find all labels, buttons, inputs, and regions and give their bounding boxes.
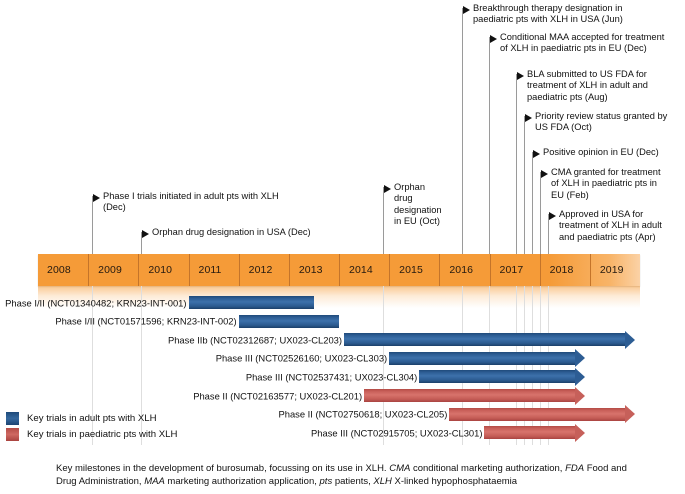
gantt-gridline bbox=[540, 286, 541, 445]
milestone-arrow-icon bbox=[517, 72, 524, 80]
year-cell-2009: 2009 bbox=[88, 254, 138, 286]
gantt-bar-body bbox=[389, 352, 575, 365]
year-cell-2011: 2011 bbox=[189, 254, 239, 286]
gantt-bar-arrowhead-icon bbox=[575, 349, 585, 367]
gantt-bar-arrowhead-icon bbox=[575, 424, 585, 442]
milestone-arrow-icon bbox=[142, 230, 149, 238]
milestone-label: Breakthrough therapy designation in paed… bbox=[473, 3, 623, 26]
caption-text: X-linked hypophosphataemia bbox=[392, 476, 517, 487]
gantt-row[interactable]: Phase I/II (NCT01340482; KRN23-INT-001) bbox=[189, 296, 314, 309]
caption-abbreviation: pts bbox=[320, 476, 333, 487]
milestone-annotation: Approved in USA for treatment of XLH in … bbox=[549, 209, 662, 243]
legend: Key trials in adult pts with XLHKey tria… bbox=[6, 410, 177, 442]
caption-text: marketing authorization application, bbox=[165, 476, 320, 487]
year-cell-2008: 2008 bbox=[38, 254, 88, 286]
milestone-annotation: BLA submitted to US FDA for treatment of… bbox=[517, 69, 648, 103]
milestone-label: Conditional MAA accepted for treatment o… bbox=[500, 32, 664, 55]
gantt-bar-arrowhead-icon bbox=[575, 368, 585, 386]
gantt-bar[interactable] bbox=[419, 370, 585, 383]
milestone-leader-line bbox=[524, 116, 525, 254]
gantt-bar-body bbox=[449, 408, 625, 421]
milestone-label: Phase I trials initiated in adult pts wi… bbox=[103, 191, 279, 214]
milestone-leader-line bbox=[489, 37, 490, 254]
milestone-annotation: Positive opinion in EU (Dec) bbox=[533, 147, 659, 158]
gantt-bar[interactable] bbox=[344, 333, 635, 346]
legend-item[interactable]: Key trials in paediatric pts with XLH bbox=[6, 426, 177, 442]
caption-abbreviation: XLH bbox=[373, 476, 391, 487]
milestone-label: Positive opinion in EU (Dec) bbox=[543, 147, 659, 158]
gantt-gridline bbox=[532, 286, 533, 445]
year-cell-2018: 2018 bbox=[540, 254, 590, 286]
year-label: 2009 bbox=[89, 264, 122, 276]
milestone-arrow-icon bbox=[93, 194, 100, 202]
gantt-bar-body bbox=[419, 370, 575, 383]
gantt-row-label: Phase II (NCT02750618; UX023-CL205) bbox=[279, 409, 448, 420]
gantt-row[interactable]: Phase II (NCT02163577; UX023-CL201) bbox=[364, 389, 585, 402]
year-label: 2011 bbox=[190, 264, 222, 276]
gantt-row[interactable]: Phase IIb (NCT02312687; UX023-CL203) bbox=[344, 333, 635, 346]
milestone-annotation: Orphan drug designation in EU (Oct) bbox=[384, 182, 442, 227]
milestone-arrow-icon bbox=[549, 212, 556, 220]
milestone-label: Approved in USA for treatment of XLH in … bbox=[559, 209, 662, 243]
gantt-bar[interactable] bbox=[239, 315, 339, 328]
gantt-row-label: Phase I/II (NCT01571596; KRN23-INT-002) bbox=[55, 316, 236, 327]
gantt-bar-body bbox=[344, 333, 625, 346]
year-label: 2012 bbox=[240, 264, 273, 276]
milestone-label: Orphan drug designation in EU (Oct) bbox=[394, 182, 442, 227]
gantt-gridline bbox=[383, 286, 384, 445]
legend-label: Key trials in paediatric pts with XLH bbox=[27, 429, 177, 440]
milestone-annotation: Orphan drug designation in USA (Dec) bbox=[142, 227, 311, 238]
milestone-arrow-icon bbox=[533, 150, 540, 158]
milestone-annotation: Conditional MAA accepted for treatment o… bbox=[490, 32, 664, 55]
year-label: 2014 bbox=[340, 264, 373, 276]
milestone-annotation: Phase I trials initiated in adult pts wi… bbox=[93, 191, 279, 214]
legend-item[interactable]: Key trials in adult pts with XLH bbox=[6, 410, 177, 426]
milestone-leader-line bbox=[462, 8, 463, 254]
gantt-row[interactable]: Phase III (NCT02526160; UX023-CL303) bbox=[389, 352, 585, 365]
gantt-bar-arrowhead-icon bbox=[625, 405, 635, 423]
burosumab-milestone-timeline-figure: Phase I trials initiated in adult pts wi… bbox=[0, 0, 685, 494]
gantt-row-label: Phase I/II (NCT01340482; KRN23-INT-001) bbox=[5, 297, 186, 308]
year-cell-2017: 2017 bbox=[490, 254, 540, 286]
milestone-annotation: Breakthrough therapy designation in paed… bbox=[463, 3, 623, 26]
gantt-row[interactable]: Phase II (NCT02750618; UX023-CL205) bbox=[449, 408, 635, 421]
caption-abbreviation: MAA bbox=[144, 476, 165, 487]
legend-color-swatch bbox=[6, 428, 19, 441]
gantt-bar[interactable] bbox=[484, 426, 584, 439]
milestone-leader-line bbox=[532, 152, 533, 254]
gantt-row[interactable]: Phase III (NCT02537431; UX023-CL304) bbox=[419, 370, 585, 383]
year-axis-band: 2008200920102011201220132014201520162017… bbox=[38, 254, 640, 286]
milestone-annotation: CMA granted for treatment of XLH in paed… bbox=[541, 167, 661, 201]
gantt-gridline bbox=[548, 286, 549, 445]
year-cell-2013: 2013 bbox=[289, 254, 339, 286]
legend-color-swatch bbox=[6, 412, 19, 425]
figure-caption: Key milestones in the development of bur… bbox=[56, 462, 646, 488]
gantt-bar-arrowhead-icon bbox=[625, 331, 635, 349]
year-cell-2012: 2012 bbox=[239, 254, 289, 286]
milestone-arrow-icon bbox=[490, 35, 497, 43]
caption-abbreviation: CMA bbox=[389, 463, 410, 474]
caption-text: Key milestones in the development of bur… bbox=[56, 463, 389, 474]
milestone-label: CMA granted for treatment of XLH in paed… bbox=[551, 167, 661, 201]
gantt-row-label: Phase III (NCT02526160; UX023-CL303) bbox=[216, 353, 387, 364]
gantt-gridline bbox=[462, 286, 463, 445]
milestone-label: Priority review status granted by US FDA… bbox=[535, 111, 667, 134]
year-label: 2019 bbox=[591, 264, 624, 276]
year-label: 2013 bbox=[290, 264, 323, 276]
year-label: 2017 bbox=[491, 264, 524, 276]
gantt-bar-body bbox=[484, 426, 574, 439]
year-label: 2010 bbox=[139, 264, 172, 276]
gantt-bar-body bbox=[239, 315, 339, 328]
caption-text: conditional marketing authorization, bbox=[410, 463, 565, 474]
gantt-gridline bbox=[489, 286, 490, 445]
milestone-label: Orphan drug designation in USA (Dec) bbox=[152, 227, 311, 238]
gantt-row[interactable]: Phase III (NCT02915705; UX023-CL301) bbox=[484, 426, 584, 439]
gantt-row-label: Phase II (NCT02163577; UX023-CL201) bbox=[193, 390, 362, 401]
gantt-bar[interactable] bbox=[449, 408, 635, 421]
gantt-gridline bbox=[516, 286, 517, 445]
year-cell-2016: 2016 bbox=[439, 254, 489, 286]
year-cell-2014: 2014 bbox=[339, 254, 389, 286]
gantt-bar-arrowhead-icon bbox=[575, 387, 585, 405]
milestone-label: BLA submitted to US FDA for treatment of… bbox=[527, 69, 648, 103]
year-label: 2018 bbox=[541, 264, 574, 276]
gantt-row[interactable]: Phase I/II (NCT01571596; KRN23-INT-002) bbox=[239, 315, 339, 328]
gantt-bar[interactable] bbox=[189, 296, 314, 309]
milestone-arrow-icon bbox=[384, 185, 391, 193]
year-cell-2019: 2019 bbox=[590, 254, 640, 286]
gantt-bar-body bbox=[364, 389, 575, 402]
milestone-arrow-icon bbox=[463, 6, 470, 14]
caption-abbreviation: FDA bbox=[565, 463, 584, 474]
gantt-row-label: Phase IIb (NCT02312687; UX023-CL203) bbox=[168, 334, 342, 345]
legend-label: Key trials in adult pts with XLH bbox=[27, 413, 157, 424]
year-cell-2015: 2015 bbox=[389, 254, 439, 286]
year-label: 2008 bbox=[38, 264, 71, 276]
year-cell-2010: 2010 bbox=[138, 254, 188, 286]
gantt-bar[interactable] bbox=[389, 352, 585, 365]
gantt-bar[interactable] bbox=[364, 389, 585, 402]
year-label: 2016 bbox=[440, 264, 473, 276]
milestone-annotation: Priority review status granted by US FDA… bbox=[525, 111, 667, 134]
milestone-arrow-icon bbox=[541, 170, 548, 178]
gantt-row-label: Phase III (NCT02537431; UX023-CL304) bbox=[246, 371, 417, 382]
gantt-bar-body bbox=[189, 296, 314, 309]
gantt-gridline bbox=[524, 286, 525, 445]
milestone-arrow-icon bbox=[525, 114, 532, 122]
year-label: 2015 bbox=[390, 264, 423, 276]
caption-text: patients, bbox=[332, 476, 373, 487]
gantt-row-label: Phase III (NCT02915705; UX023-CL301) bbox=[311, 427, 482, 438]
